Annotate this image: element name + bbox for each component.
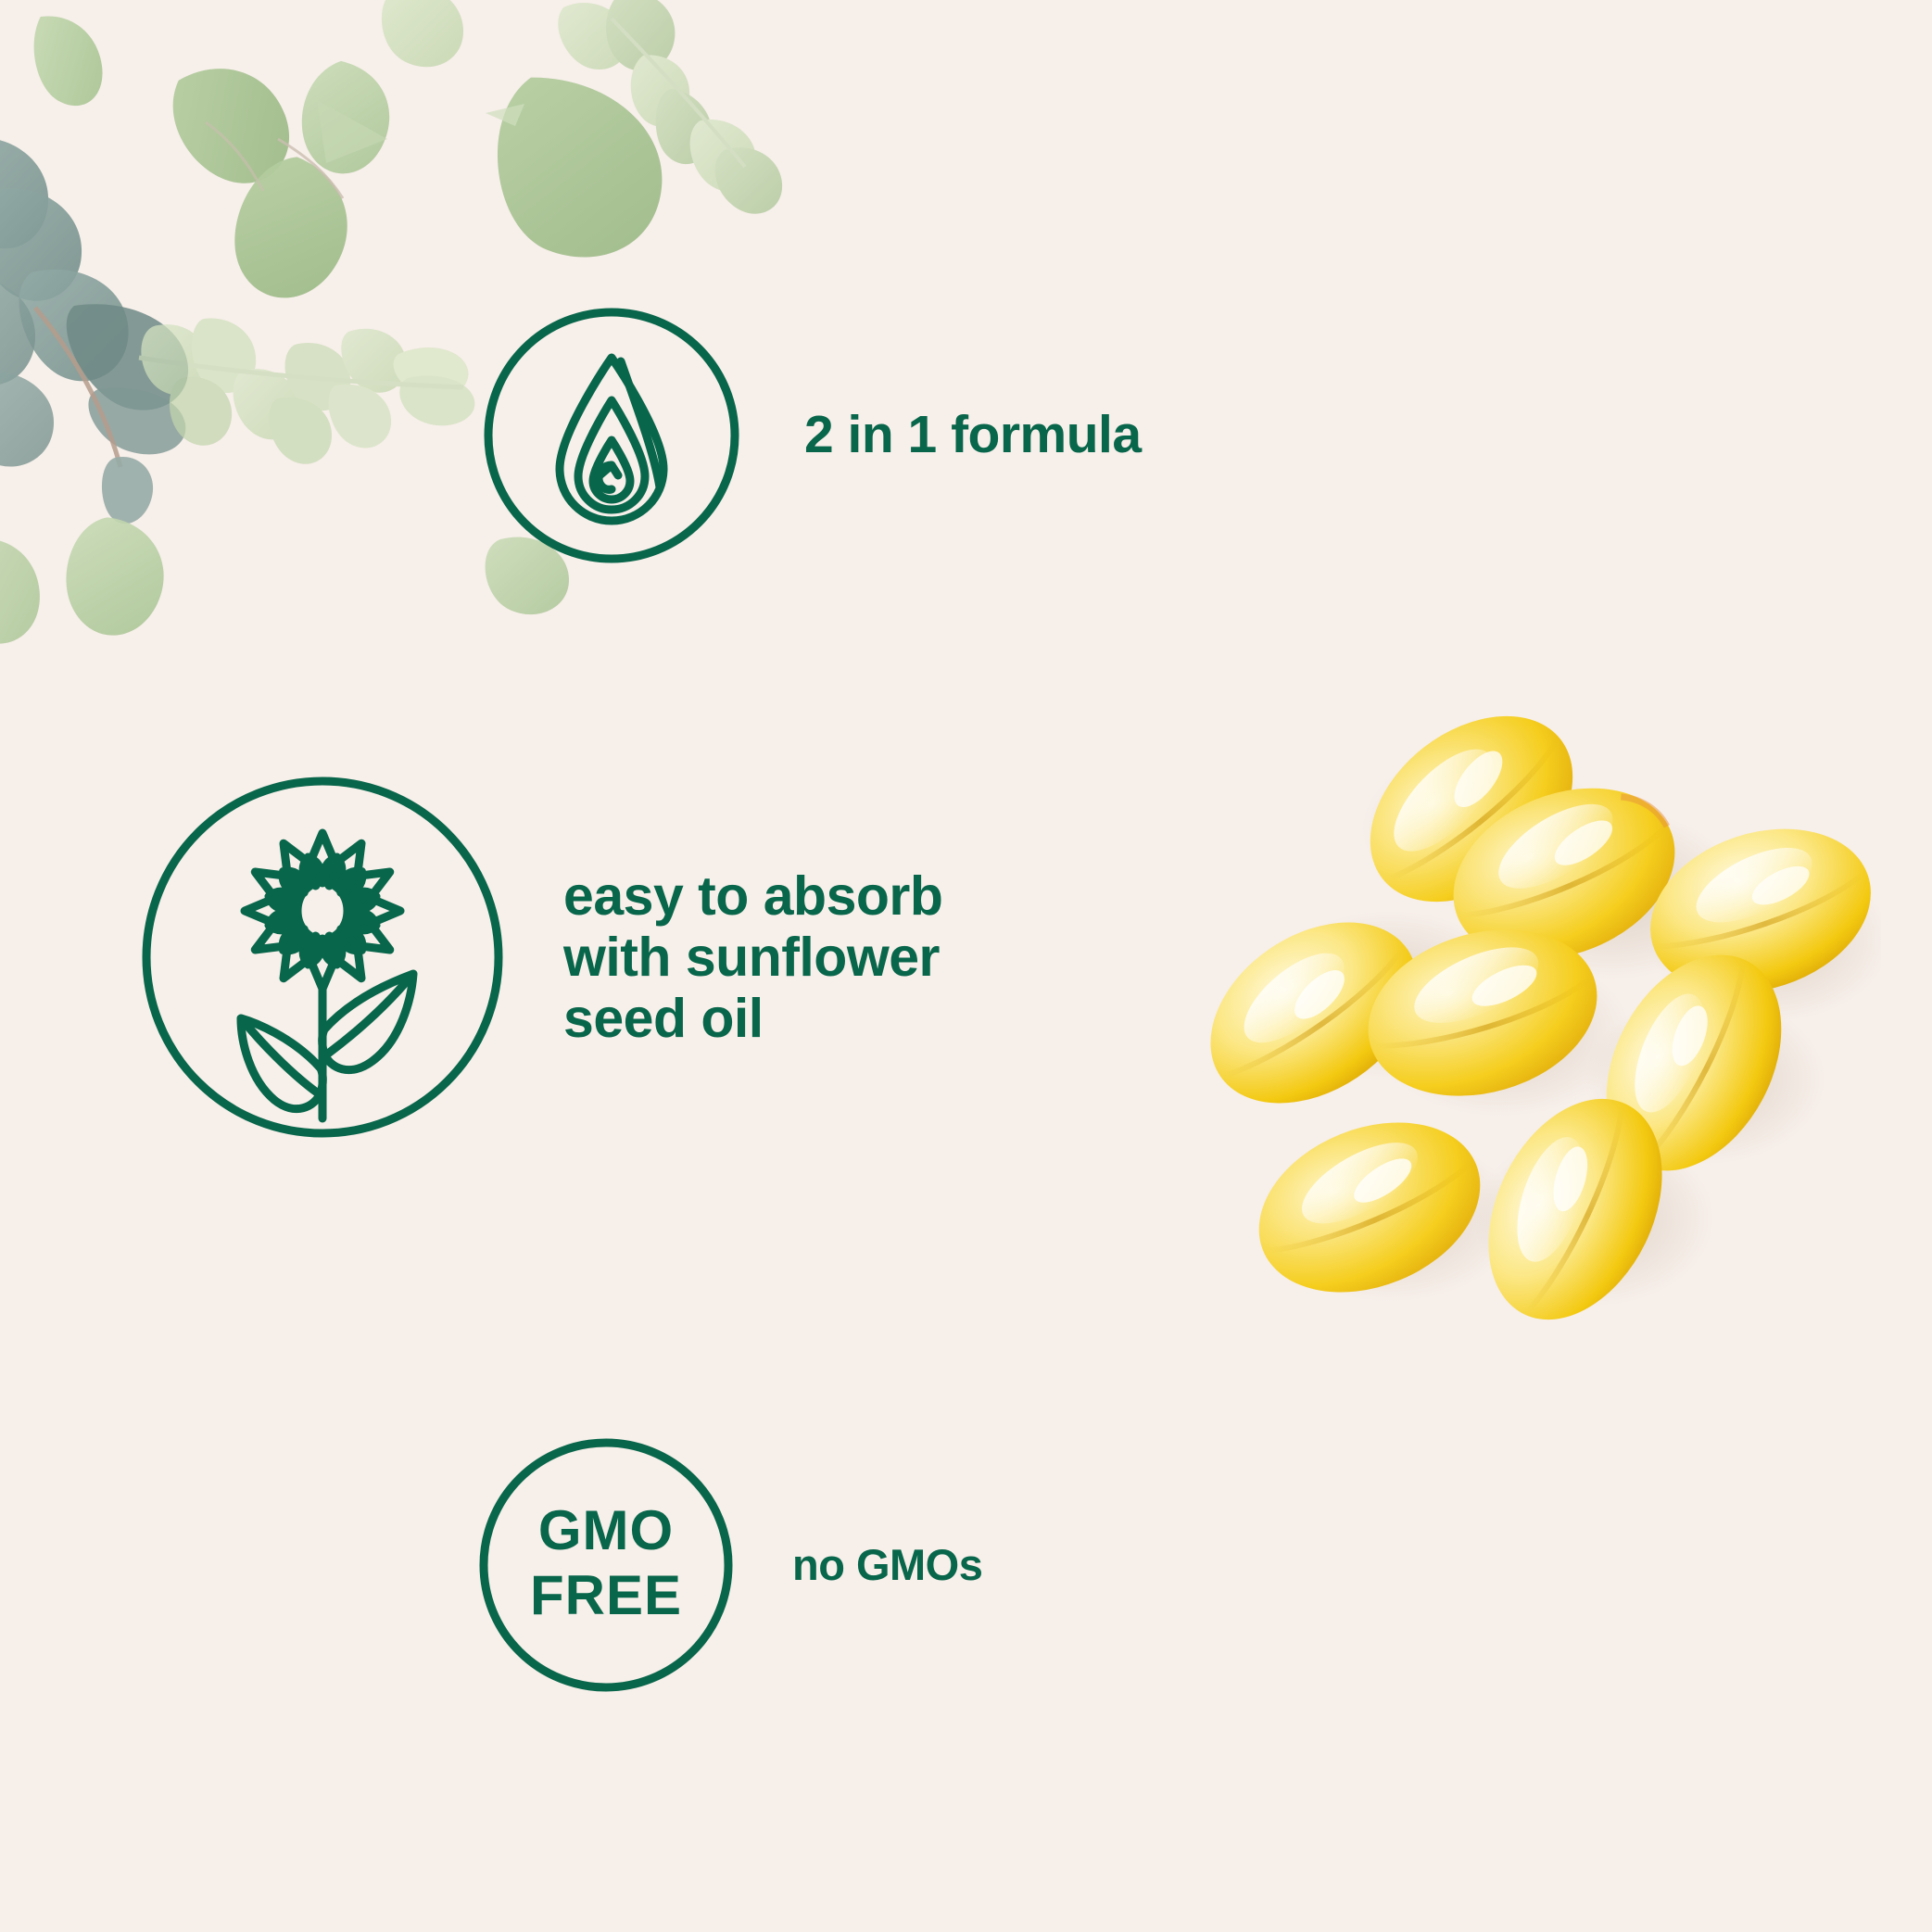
leaf-sprig <box>558 0 782 214</box>
softgel-capsule-cluster-image <box>1177 663 1881 1348</box>
leaf-shape <box>484 72 675 267</box>
gmo-badge-line2: FREE <box>530 1564 682 1626</box>
feature-row-gmo: GMO FREE no GMOs <box>477 1436 982 1694</box>
gmo-badge-line1: GMO <box>538 1499 674 1561</box>
feature-row-formula: 2 in 1 formula <box>482 306 1142 565</box>
feature-label-formula: 2 in 1 formula <box>804 406 1142 465</box>
infographic-canvas: 2 in 1 formula <box>0 0 1932 1932</box>
leaf-sprig <box>139 319 474 464</box>
leaf-shape <box>22 3 403 317</box>
water-droplet-spiral-icon <box>482 306 741 565</box>
feature-label-absorb: easy to absorb with sunflower seed oil <box>563 865 942 1049</box>
eucalyptus-branch <box>0 137 188 524</box>
capsule <box>1233 1092 1506 1324</box>
feature-label-gmo: no GMOs <box>792 1541 982 1590</box>
feature-row-absorb: easy to absorb with sunflower seed oil <box>139 774 942 1141</box>
sunflower-icon <box>139 774 506 1141</box>
gmo-free-badge-icon: GMO FREE <box>477 1436 735 1694</box>
